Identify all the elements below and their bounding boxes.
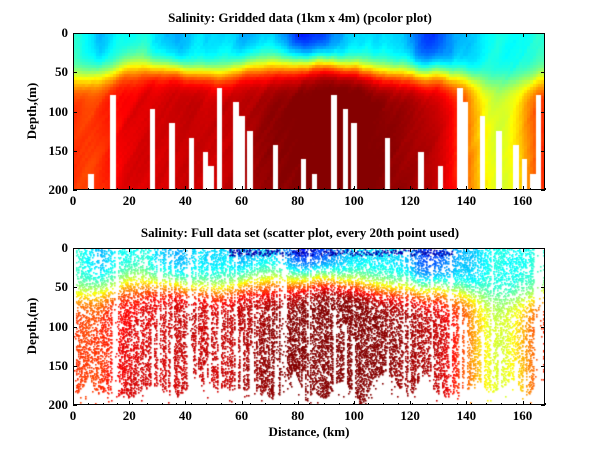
top-xminor-tick <box>221 188 222 190</box>
top-xminor-tick <box>280 188 281 190</box>
bottom-xtick-mark <box>523 401 524 405</box>
top-xminor-tick <box>339 188 340 190</box>
bottom-xminor-tick <box>486 403 487 405</box>
top-xtick-mark <box>466 33 467 37</box>
bottom-xtick-mark <box>185 401 186 405</box>
bottom-xminor-tick <box>103 403 104 405</box>
bottom-xtick-mark <box>298 401 299 405</box>
bottom-ytick-label: 50 <box>33 279 68 295</box>
bottom-plot-title: Salinity: Full data set (scatter plot, e… <box>0 225 600 241</box>
top-xtick-label: 160 <box>513 193 533 209</box>
top-xminor-tick <box>206 188 207 190</box>
top-ytick-label: 100 <box>33 104 68 120</box>
bottom-xtick-mark <box>129 401 130 405</box>
bottom-ytick-label: 100 <box>33 319 68 335</box>
bottom-xtick-mark <box>242 401 243 405</box>
top-xtick-mark <box>410 186 411 190</box>
bottom-xminor-tick <box>398 403 399 405</box>
top-xtick-label: 0 <box>70 193 77 209</box>
gridded-pcolor-axes <box>73 33 545 190</box>
top-xminor-tick <box>250 188 251 190</box>
bottom-xlabel: Distance, (km) <box>269 424 350 440</box>
full-dataset-scatter-axes <box>73 248 545 405</box>
top-xminor-tick <box>191 188 192 190</box>
top-xminor-tick <box>103 188 104 190</box>
top-ytick-label: 150 <box>33 143 68 159</box>
bottom-ytick-mark <box>541 287 545 288</box>
top-xminor-tick <box>235 188 236 190</box>
bottom-ytick-mark <box>541 366 545 367</box>
bottom-xminor-tick <box>324 403 325 405</box>
bottom-ytick-mark <box>73 287 77 288</box>
bottom-xtick-label: 0 <box>70 408 77 424</box>
top-ytick-mark <box>73 151 77 152</box>
top-xminor-tick <box>383 188 384 190</box>
bottom-xtick-mark <box>185 248 186 252</box>
bottom-xtick-mark <box>410 401 411 405</box>
bottom-xminor-tick <box>73 403 74 405</box>
bottom-xminor-tick <box>280 403 281 405</box>
top-xminor-tick <box>471 188 472 190</box>
top-xminor-tick <box>309 188 310 190</box>
bottom-xtick-mark <box>298 248 299 252</box>
top-xminor-tick <box>457 188 458 190</box>
top-ytick-label: 50 <box>33 64 68 80</box>
bottom-xminor-tick <box>353 403 354 405</box>
bottom-xtick-mark <box>466 401 467 405</box>
top-xminor-tick <box>368 188 369 190</box>
bottom-xminor-tick <box>162 403 163 405</box>
top-xminor-tick <box>132 188 133 190</box>
bottom-ytick-mark <box>73 327 77 328</box>
bottom-ytick-label: 150 <box>33 358 68 374</box>
bottom-xtick-label: 120 <box>400 408 420 424</box>
top-xtick-label: 60 <box>235 193 248 209</box>
top-xminor-tick <box>398 188 399 190</box>
bottom-ytick-mark <box>541 327 545 328</box>
top-xminor-tick <box>147 188 148 190</box>
bottom-xminor-tick <box>191 403 192 405</box>
bottom-xtick-label: 100 <box>344 408 364 424</box>
bottom-xminor-tick <box>235 403 236 405</box>
bottom-xtick-label: 80 <box>291 408 304 424</box>
bottom-xminor-tick <box>294 403 295 405</box>
top-xminor-tick <box>265 188 266 190</box>
bottom-ytick-mark <box>73 366 77 367</box>
top-xtick-label: 40 <box>179 193 192 209</box>
bottom-xminor-tick <box>117 403 118 405</box>
bottom-ytick-mark <box>541 405 545 406</box>
top-xminor-tick <box>501 188 502 190</box>
bottom-xminor-tick <box>206 403 207 405</box>
top-xtick-label: 140 <box>457 193 477 209</box>
top-xtick-mark <box>298 33 299 37</box>
top-xminor-tick <box>176 188 177 190</box>
bottom-ytick-label: 0 <box>33 240 68 256</box>
bottom-xminor-tick <box>383 403 384 405</box>
bottom-ytick-label: 200 <box>33 397 68 413</box>
top-plot-title: Salinity: Gridded data (1km x 4m) (pcolo… <box>0 10 600 26</box>
bottom-ytick-mark <box>73 405 77 406</box>
top-ytick-mark <box>541 112 545 113</box>
top-xminor-tick <box>427 188 428 190</box>
bottom-xtick-mark <box>354 248 355 252</box>
bottom-xminor-tick <box>250 403 251 405</box>
top-xtick-mark <box>185 186 186 190</box>
bottom-ytick-mark <box>73 248 77 249</box>
top-ytick-mark <box>73 112 77 113</box>
bottom-xtick-label: 160 <box>513 408 533 424</box>
top-xminor-tick <box>294 188 295 190</box>
bottom-xtick-mark <box>523 248 524 252</box>
bottom-xminor-tick <box>442 403 443 405</box>
top-xtick-label: 120 <box>400 193 420 209</box>
top-xtick-mark <box>410 33 411 37</box>
bottom-xminor-tick <box>132 403 133 405</box>
top-xtick-mark <box>466 186 467 190</box>
bottom-xminor-tick <box>412 403 413 405</box>
top-xtick-mark <box>242 33 243 37</box>
top-ytick-mark <box>73 190 77 191</box>
bottom-xminor-tick <box>368 403 369 405</box>
top-xminor-tick <box>324 188 325 190</box>
top-xtick-mark <box>129 186 130 190</box>
top-xtick-label: 20 <box>123 193 136 209</box>
top-ytick-mark <box>541 190 545 191</box>
bottom-xminor-tick <box>530 403 531 405</box>
top-ytick-mark <box>73 33 77 34</box>
bottom-xtick-mark <box>466 248 467 252</box>
gridded-pcolor-image <box>74 34 544 189</box>
top-xminor-tick <box>353 188 354 190</box>
bottom-xminor-tick <box>147 403 148 405</box>
top-xminor-tick <box>162 188 163 190</box>
full-dataset-scatter-points <box>74 249 544 404</box>
top-xminor-tick <box>73 188 74 190</box>
bottom-xminor-tick <box>339 403 340 405</box>
bottom-xminor-tick <box>516 403 517 405</box>
top-xminor-tick <box>442 188 443 190</box>
top-xminor-tick <box>545 188 546 190</box>
bottom-xminor-tick <box>457 403 458 405</box>
top-xtick-label: 80 <box>291 193 304 209</box>
top-xminor-tick <box>516 188 517 190</box>
top-xtick-mark <box>242 186 243 190</box>
top-xtick-mark <box>523 186 524 190</box>
top-xtick-mark <box>354 33 355 37</box>
top-xminor-tick <box>117 188 118 190</box>
bottom-xminor-tick <box>309 403 310 405</box>
bottom-xminor-tick <box>427 403 428 405</box>
top-xtick-mark <box>298 186 299 190</box>
top-xtick-label: 100 <box>344 193 364 209</box>
bottom-ytick-mark <box>541 248 545 249</box>
bottom-xtick-mark <box>129 248 130 252</box>
bottom-xminor-tick <box>545 403 546 405</box>
bottom-xtick-label: 140 <box>457 408 477 424</box>
top-ytick-label: 200 <box>33 182 68 198</box>
top-ytick-mark <box>541 33 545 34</box>
top-xminor-tick <box>486 188 487 190</box>
top-xminor-tick <box>412 188 413 190</box>
bottom-xtick-label: 40 <box>179 408 192 424</box>
top-xminor-tick <box>88 188 89 190</box>
figure-canvas: Salinity: Gridded data (1km x 4m) (pcolo… <box>0 0 600 451</box>
top-ytick-mark <box>73 72 77 73</box>
bottom-xminor-tick <box>265 403 266 405</box>
bottom-xminor-tick <box>501 403 502 405</box>
bottom-xtick-mark <box>410 248 411 252</box>
top-ytick-mark <box>541 151 545 152</box>
bottom-xminor-tick <box>221 403 222 405</box>
top-xtick-mark <box>523 33 524 37</box>
top-ytick-mark <box>541 72 545 73</box>
bottom-xminor-tick <box>88 403 89 405</box>
top-xtick-mark <box>185 33 186 37</box>
bottom-xtick-label: 60 <box>235 408 248 424</box>
top-xtick-mark <box>129 33 130 37</box>
top-ytick-label: 0 <box>33 25 68 41</box>
bottom-xtick-label: 20 <box>123 408 136 424</box>
top-xminor-tick <box>530 188 531 190</box>
bottom-xminor-tick <box>471 403 472 405</box>
bottom-xtick-mark <box>242 248 243 252</box>
bottom-xminor-tick <box>176 403 177 405</box>
